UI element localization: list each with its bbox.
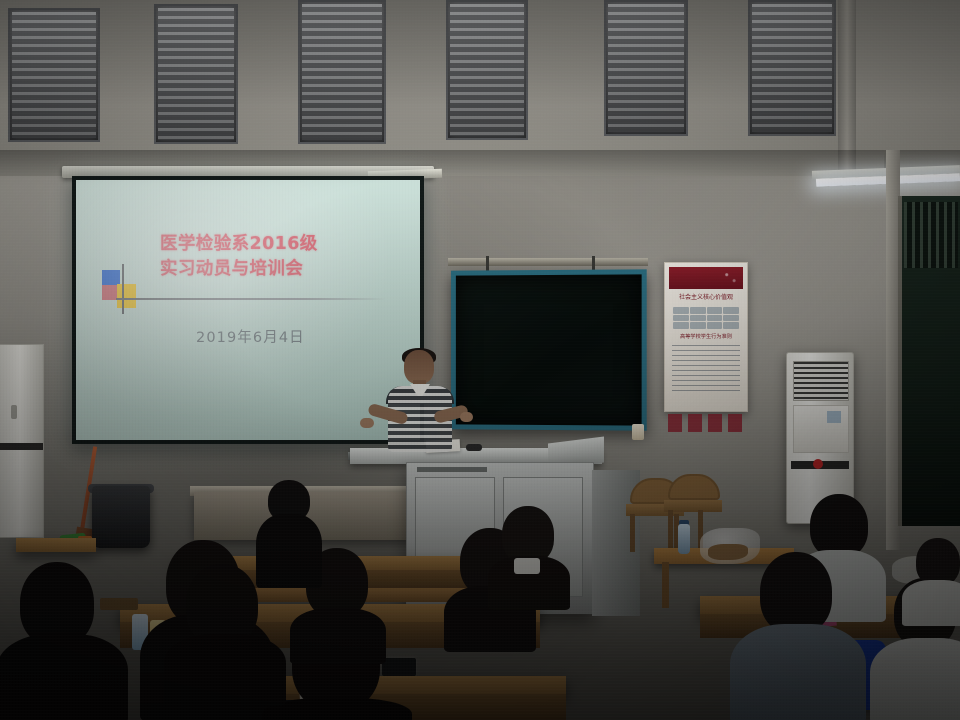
slide-title-line-2: 实习动员与培训会: [160, 257, 404, 282]
student-mid-right: [492, 506, 566, 604]
student-far-right: [908, 538, 960, 618]
vent-window-2: [154, 4, 238, 144]
chair-leg: [668, 510, 673, 548]
white-cabinet[interactable]: [0, 344, 44, 538]
table-leg: [662, 562, 669, 608]
presenter-right-hand: [460, 412, 473, 422]
blackboard-rail: [448, 258, 648, 266]
cabinet-handle[interactable]: [11, 405, 17, 419]
cabinet-stripe: [0, 443, 43, 450]
student-front-left: [2, 562, 122, 720]
poster-subheading: 高等学校学生行为准则: [670, 333, 742, 342]
white-collar: [514, 558, 540, 574]
presenter-left-hand: [360, 418, 374, 428]
projected-slide: 医学检验系2016级 实习动员与培训会 2019年6月4日: [76, 180, 420, 440]
water-bottle: [678, 524, 690, 554]
presenter: [372, 350, 468, 462]
ac-power-indicator-icon: [813, 459, 823, 469]
door-grille-icon: [904, 202, 958, 268]
poster-body-text: [672, 345, 740, 393]
paper-cup: [632, 424, 644, 440]
trash-bin: [92, 486, 150, 548]
ac-vent-grille: [793, 361, 849, 401]
poster-banner: [669, 267, 743, 289]
poster-sparkle-icon: [669, 267, 743, 289]
blackboard: [451, 269, 647, 430]
student-right-grey-shirt: [736, 552, 856, 720]
slide-decoration-icon: [102, 270, 136, 308]
vent-window-6: [604, 0, 688, 136]
chair-leg: [630, 514, 635, 552]
vent-window-4: [446, 0, 528, 140]
slide-title-line-1: 医学检验系2016级: [160, 232, 404, 257]
classroom-photo: 社会主义核心价值观 高等学校学生行为准则 医学检验系2016级 实习动员与培训会…: [0, 0, 960, 720]
blackboard-surface: [456, 274, 642, 425]
side-desk-left: [16, 538, 96, 552]
microphone[interactable]: [466, 444, 482, 451]
vent-window-3: [298, 0, 386, 144]
podium-vent-slot: [417, 467, 487, 472]
slide-date: 2019年6月4日: [196, 326, 416, 347]
vent-window-5: [748, 0, 836, 136]
poster-heading: 社会主义核心价值观: [670, 291, 742, 305]
slide-title: 医学检验系2016级 实习动员与培训会: [160, 232, 404, 282]
slide-divider-rule: [116, 298, 386, 300]
poster-footer-strip: [668, 414, 742, 432]
student-standing-back: [258, 480, 322, 584]
vent-window-1: [8, 8, 100, 142]
presenter-head: [404, 350, 434, 384]
poster-value-grid: [673, 307, 739, 329]
wall-poster: 社会主义核心价值观 高等学校学生行为准则: [664, 262, 748, 412]
ac-label-badge: [827, 411, 841, 423]
